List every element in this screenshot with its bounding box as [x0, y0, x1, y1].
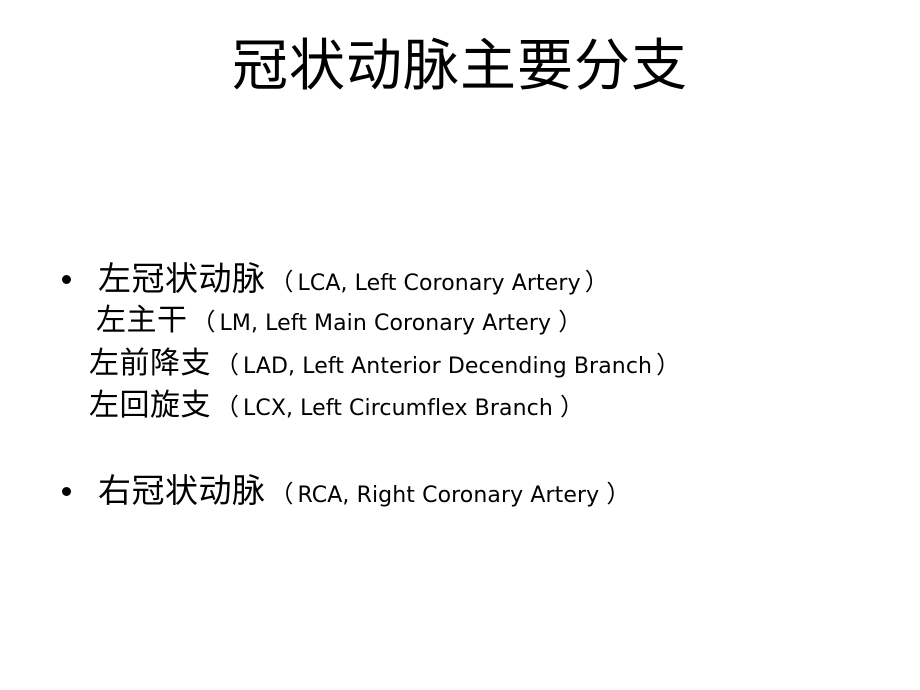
- slide-title: 冠状动脉主要分支: [0, 36, 920, 99]
- bullet-item-lca: 左冠状动脉 （ LCA, Left Coronary Artery ）: [0, 258, 920, 300]
- bullet-lca-open-paren: （: [270, 268, 294, 296]
- sub-item-lcx: 左回旋支 （ LCX, Left Circumflex Branch ）: [0, 388, 920, 425]
- bullet-item-rca: 右冠状动脉 （ RCA, Right Coronary Artery ）: [0, 470, 920, 512]
- bullet-rca-en-label: RCA, Right Coronary Artery: [298, 483, 607, 508]
- bullet-lca-close-paren: ）: [585, 268, 609, 296]
- presentation-slide: 冠状动脉主要分支 左冠状动脉 （ LCA, Left Coronary Arte…: [0, 0, 920, 690]
- bullet-dot-icon: [62, 275, 71, 284]
- sub-lcx-open-paren: （: [215, 393, 239, 421]
- slide-body: 左冠状动脉 （ LCA, Left Coronary Artery ） 左主干 …: [0, 258, 920, 512]
- sub-item-lm: 左主干 （ LM, Left Main Coronary Artery ）: [0, 303, 920, 340]
- bullet-lca-en-label: LCA, Left Coronary Artery: [298, 271, 581, 296]
- sub-lad-close-paren: ）: [656, 351, 680, 379]
- bullet-dot-icon: [62, 487, 71, 496]
- paragraph-spacer: [0, 424, 920, 470]
- bullet-rca-open-paren: （: [270, 480, 294, 508]
- sub-item-lad: 左前降支 （ LAD, Left Anterior Decending Bran…: [0, 346, 920, 383]
- bullet-rca-cn-label: 右冠状动脉: [98, 471, 266, 510]
- sub-lm-open-paren: （: [192, 308, 216, 336]
- sub-lcx-close-paren: ）: [560, 393, 584, 421]
- sub-lad-open-paren: （: [215, 351, 239, 379]
- sub-lcx-en-label: LCX, Left Circumflex Branch: [243, 396, 560, 421]
- sub-lm-en-label: LM, Left Main Coronary Artery: [220, 311, 559, 336]
- bullet-rca-close-paren: ）: [606, 480, 630, 508]
- sub-lm-cn-label: 左主干: [96, 303, 188, 338]
- sub-lcx-cn-label: 左回旋支: [89, 388, 211, 423]
- sub-lad-cn-label: 左前降支: [89, 346, 211, 381]
- sub-lm-close-paren: ）: [558, 308, 582, 336]
- sub-lad-en-label: LAD, Left Anterior Decending Branch: [243, 354, 652, 379]
- bullet-lca-cn-label: 左冠状动脉: [98, 259, 266, 298]
